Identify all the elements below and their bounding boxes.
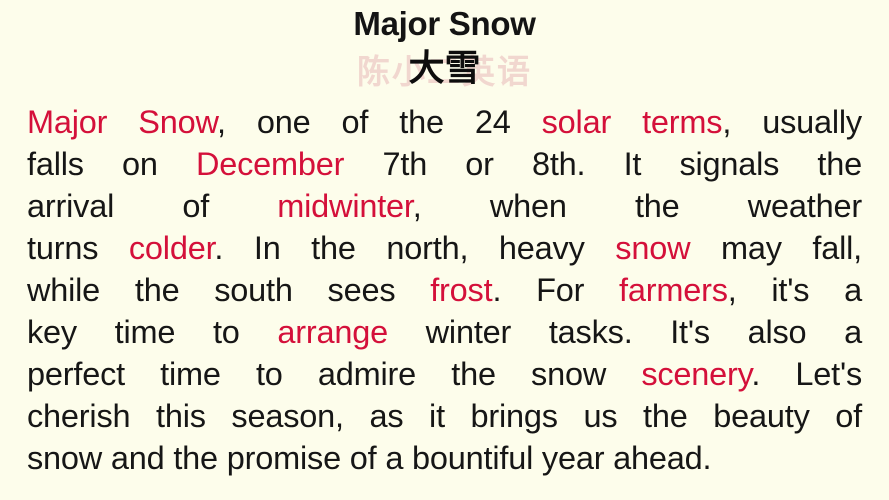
body-text-run: falls on: [27, 146, 196, 182]
highlighted-term: arrange: [277, 314, 388, 350]
highlighted-term: snow: [615, 230, 690, 266]
body-line: key time to arrange winter tasks. It's a…: [27, 311, 862, 353]
body-text-run: , one of the 24: [217, 104, 542, 140]
highlighted-term: midwinter: [277, 188, 412, 224]
body-line: turns colder. In the north, heavy snow m…: [27, 227, 862, 269]
body-line: while the south sees frost. For farmers,…: [27, 269, 862, 311]
body-line: Major Snow, one of the 24 solar terms, u…: [27, 101, 862, 143]
body-text-run: . In the north, heavy: [214, 230, 615, 266]
heading-block: Major Snow 陈小二英语 大雪: [0, 0, 889, 94]
body-text-run: turns: [27, 230, 129, 266]
highlighted-term: frost: [430, 272, 492, 308]
highlighted-term: scenery: [641, 356, 751, 392]
body-line: snow and the promise of a bountiful year…: [27, 437, 862, 479]
body-text-run: arrival of: [27, 188, 277, 224]
body-line: falls on December 7th or 8th. It signals…: [27, 143, 862, 185]
body-text-run: key time to: [27, 314, 277, 350]
body-text-run: . For: [492, 272, 619, 308]
body-text-run: perfect time to admire the snow: [27, 356, 641, 392]
body-line: arrival of midwinter, when the weather: [27, 185, 862, 227]
body-text-run: , usually: [722, 104, 862, 140]
body-text-run: 7th or 8th. It signals the: [344, 146, 862, 182]
subtitle-chinese: 大雪: [0, 46, 889, 92]
body-text-run: winter tasks. It's also a: [388, 314, 862, 350]
page-title: Major Snow: [0, 0, 889, 44]
body-text-run: , when the weather: [413, 188, 862, 224]
highlighted-term: solar terms: [542, 104, 723, 140]
slide-canvas: Major Snow 陈小二英语 大雪 Major Snow, one of t…: [0, 0, 889, 500]
body-paragraph: Major Snow, one of the 24 solar terms, u…: [27, 101, 862, 479]
body-text-run: , it's a: [728, 272, 862, 308]
highlighted-term: December: [196, 146, 344, 182]
body-text-run: . Let's: [751, 356, 862, 392]
body-text-run: snow and the promise of a bountiful year…: [27, 440, 711, 476]
body-line: cherish this season, as it brings us the…: [27, 395, 862, 437]
subtitle-block: 陈小二英语 大雪: [0, 44, 889, 94]
body-text-run: while the south sees: [27, 272, 430, 308]
highlighted-term: colder: [129, 230, 215, 266]
body-line: perfect time to admire the snow scenery.…: [27, 353, 862, 395]
highlighted-term: farmers: [619, 272, 728, 308]
body-text-run: cherish this season, as it brings us the…: [27, 398, 862, 434]
body-text-run: may fall,: [690, 230, 862, 266]
highlighted-term: Major Snow: [27, 104, 217, 140]
